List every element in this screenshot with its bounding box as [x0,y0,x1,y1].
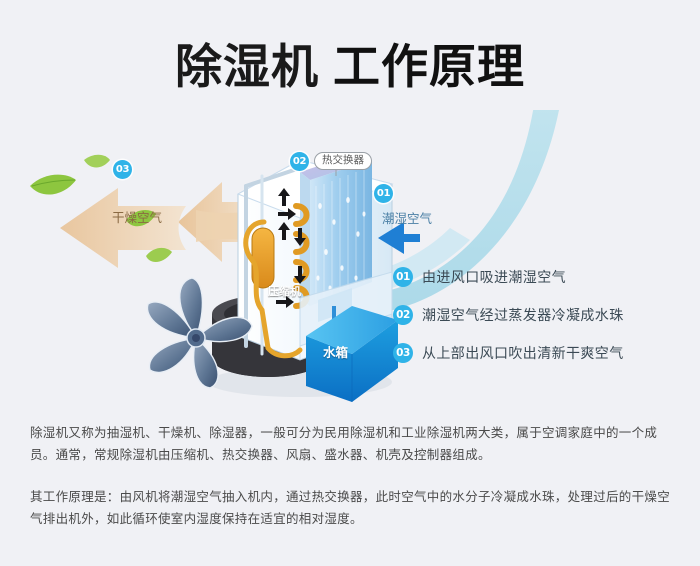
heat-exchanger-callout: 热交换器 [314,152,372,170]
step-badge: 02 [393,305,413,325]
title-main-text: 除湿机 [175,28,319,97]
diagram-badge-humid-air: 01 [374,184,393,203]
title-sub-text: 工作原理 [333,28,525,97]
step-text: 潮湿空气经过蒸发器冷凝成水珠 [422,305,624,325]
compressor-label: 压缩机 [268,286,301,297]
page-title: 除湿机工作原理 [0,28,700,97]
body-paragraph-2: 其工作原理是：由风机将潮湿空气抽入机内，通过热交换器，此时空气中的水分子冷凝成水… [30,486,676,530]
step-text: 从上部出风口吹出清新干爽空气 [422,343,624,363]
step-badge: 01 [393,267,413,287]
list-item: 03 从上部出风口吹出清新干爽空气 [393,334,693,372]
body-paragraph-1: 除湿机又称为抽湿机、干燥机、除湿器，一般可分为民用除湿机和工业除湿机两大类，属于… [30,422,676,466]
water-tank-label: 水箱 [323,347,348,360]
step-text: 由进风口吸进潮湿空气 [422,267,566,287]
humid-air-label: 潮湿空气 [382,213,432,226]
infographic-page: 除湿机工作原理 [0,0,700,566]
diagram-badge-heat-exchanger: 02 [290,152,309,171]
dry-air-label: 干燥空气 [112,212,162,225]
body-copy: 除湿机又称为抽湿机、干燥机、除湿器，一般可分为民用除湿机和工业除湿机两大类，属于… [30,422,676,530]
list-item: 01 由进风口吸进潮湿空气 [393,258,693,296]
list-item: 02 潮湿空气经过蒸发器冷凝成水珠 [393,296,693,334]
step-badge: 03 [393,343,413,363]
diagram-badge-dry-air: 03 [113,160,132,179]
steps-list: 01 由进风口吸进潮湿空气 02 潮湿空气经过蒸发器冷凝成水珠 03 从上部出风… [393,258,693,372]
